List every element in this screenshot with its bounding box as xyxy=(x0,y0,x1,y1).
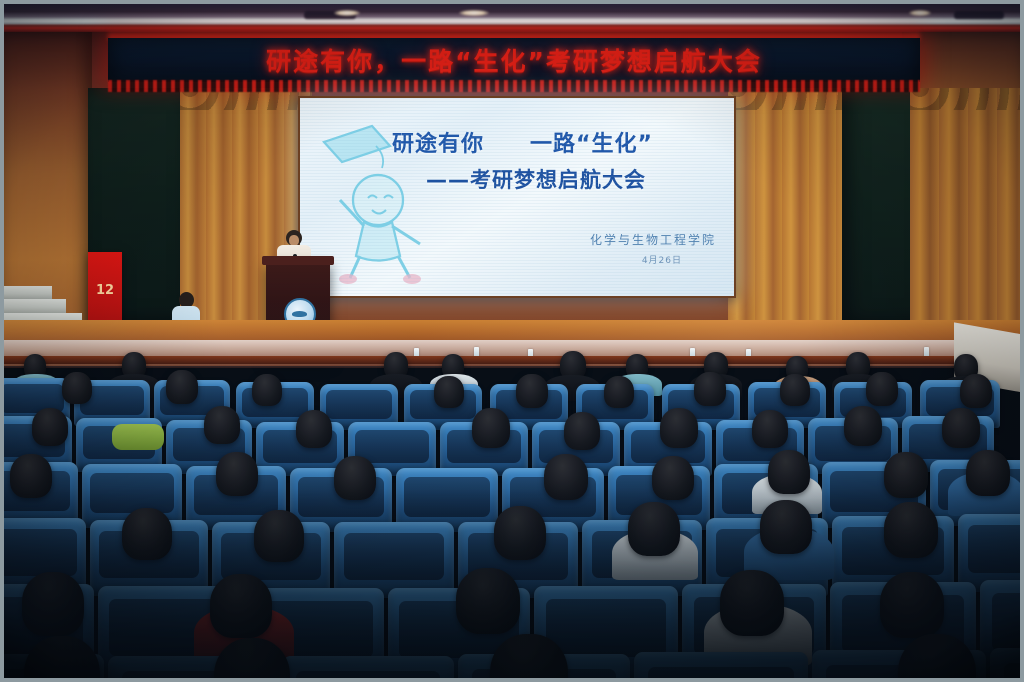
audience-head xyxy=(884,502,938,558)
audience-head xyxy=(660,408,698,448)
slide-subtitle: ——考研梦想启航大会 xyxy=(426,164,726,194)
curtain-dark-right xyxy=(842,88,918,320)
audience-head xyxy=(296,410,332,448)
audience-head xyxy=(10,454,52,498)
audience-head xyxy=(456,568,520,634)
audience-head xyxy=(22,572,84,636)
podium-top xyxy=(262,256,334,265)
ceiling-lamp xyxy=(459,10,489,16)
audience-head xyxy=(966,450,1010,496)
ceiling-fixture xyxy=(954,11,1004,19)
seat xyxy=(634,652,808,682)
audience-head xyxy=(334,456,376,500)
slide-date: 4月26日 xyxy=(642,253,682,266)
audience-head xyxy=(880,572,944,638)
audience-head xyxy=(564,412,600,450)
curtain-gold-far-right xyxy=(910,88,1020,320)
audience-head xyxy=(652,456,694,500)
audience-head xyxy=(720,570,784,636)
projection-screen: 研途有你 一路“生化” ——考研梦想启航大会 化学与生物工程学院 4月26日 xyxy=(298,96,736,298)
ceiling-lamp xyxy=(334,10,360,16)
audience-head xyxy=(604,376,634,408)
audience-head xyxy=(628,502,680,556)
audience-head xyxy=(780,374,810,406)
audience-head xyxy=(204,406,240,444)
audience-head xyxy=(210,574,272,638)
seat xyxy=(990,648,1020,682)
audience-head xyxy=(32,408,68,446)
audience-head xyxy=(166,370,198,404)
audience-head xyxy=(960,374,992,408)
audience-head xyxy=(494,506,546,560)
audience-seating xyxy=(4,350,1020,682)
audience-head xyxy=(434,376,464,408)
audience-head xyxy=(122,508,172,560)
audience-head xyxy=(254,510,304,562)
audience-head xyxy=(252,374,282,406)
led-banner: 研途有你，一路“生化”考研梦想启航大会 xyxy=(108,38,920,82)
audience-head xyxy=(472,408,510,448)
curtain-scallop xyxy=(910,88,1020,110)
slide-title: 研途有你 一路“生化” xyxy=(392,126,722,158)
audience-head xyxy=(760,500,812,554)
curtain-gold-right xyxy=(728,88,852,320)
auditorium-photo: 研途有你，一路“生化”考研梦想启航大会 xyxy=(0,0,1024,682)
stair-step xyxy=(4,299,66,313)
audience-head xyxy=(216,452,258,496)
audience-head xyxy=(844,406,882,446)
audience-bag xyxy=(112,424,164,450)
audience-head xyxy=(516,374,548,408)
audience-head xyxy=(694,372,726,406)
stair-step xyxy=(4,286,52,299)
audience-head xyxy=(752,410,788,448)
audience-head xyxy=(866,372,898,406)
seat xyxy=(282,656,454,682)
audience-head xyxy=(768,450,810,494)
seat xyxy=(334,522,454,598)
audience-head xyxy=(942,408,980,448)
audience-head xyxy=(884,452,928,498)
audience-head xyxy=(544,454,588,500)
audience-head xyxy=(62,372,92,404)
slide-organization: 化学与生物工程学院 xyxy=(590,231,716,248)
ceiling-lamp xyxy=(909,10,931,16)
led-banner-fringe xyxy=(108,80,920,92)
led-banner-text: 研途有你，一路“生化”考研梦想启航大会 xyxy=(266,42,762,78)
